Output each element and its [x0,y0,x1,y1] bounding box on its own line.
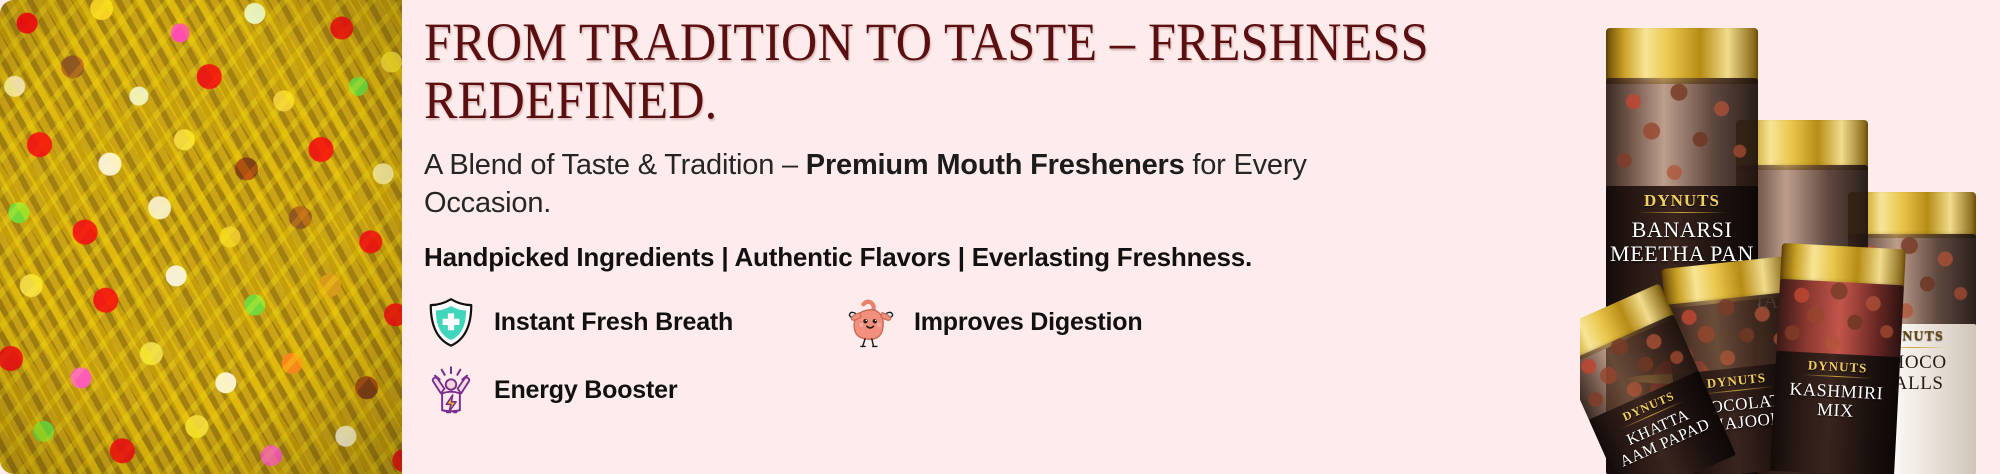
jar-glass [1606,78,1758,196]
subheadline: A Blend of Taste & Tradition – Premium M… [424,146,1404,223]
product-name-line1: BANARSI [1632,218,1733,242]
jar-contents [1776,279,1904,361]
feature-list: Instant Fresh Breath [424,295,1424,417]
jar-contents [1606,78,1758,196]
feature-label: Energy Booster [494,376,677,405]
product-jar-cluster: DYNUTS BANARSI MEETHA PAN DYNUTS NAMKEEN… [1580,0,2000,474]
jar-glass [1776,279,1904,361]
photo-vignette [0,0,402,474]
feature-label: Improves Digestion [914,308,1142,337]
tagline: Handpicked Ingredients | Authentic Flavo… [424,242,1604,273]
brand-divider [1638,212,1726,213]
headline: FROM TRADITION TO TASTE – FRESHNESS REDE… [424,14,1466,130]
feature-energy-booster: Energy Booster [424,363,677,417]
feature-row-2: Energy Booster [424,349,1424,417]
feature-row-1: Instant Fresh Breath [424,295,1424,349]
brand-name: DYNUTS [1808,358,1868,374]
jar-label: DYNUTS KASHMIRI MIX [1770,351,1900,474]
jar-cap [1606,28,1758,84]
feature-instant-fresh-breath: Instant Fresh Breath [424,295,844,349]
brand-name: DYNUTS [1644,192,1720,209]
shield-health-icon [424,295,478,349]
subheadline-emphasis: Premium Mouth Fresheners [806,149,1185,181]
hero-product-photo [0,0,402,474]
product-name-line2: MIX [1816,400,1854,421]
stomach-flexing-icon [844,295,898,349]
promo-banner: FROM TRADITION TO TASTE – FRESHNESS REDE… [0,0,2000,474]
subheadline-prefix: A Blend of Taste & Tradition – [424,149,806,181]
energy-person-icon [424,363,478,417]
product-jar-kashmiri-mix: DYNUTS KASHMIRI MIX [1770,243,1906,474]
banner-content: FROM TRADITION TO TASTE – FRESHNESS REDE… [424,0,1604,474]
feature-improves-digestion: Improves Digestion [844,295,1264,349]
feature-label: Instant Fresh Breath [494,308,733,337]
